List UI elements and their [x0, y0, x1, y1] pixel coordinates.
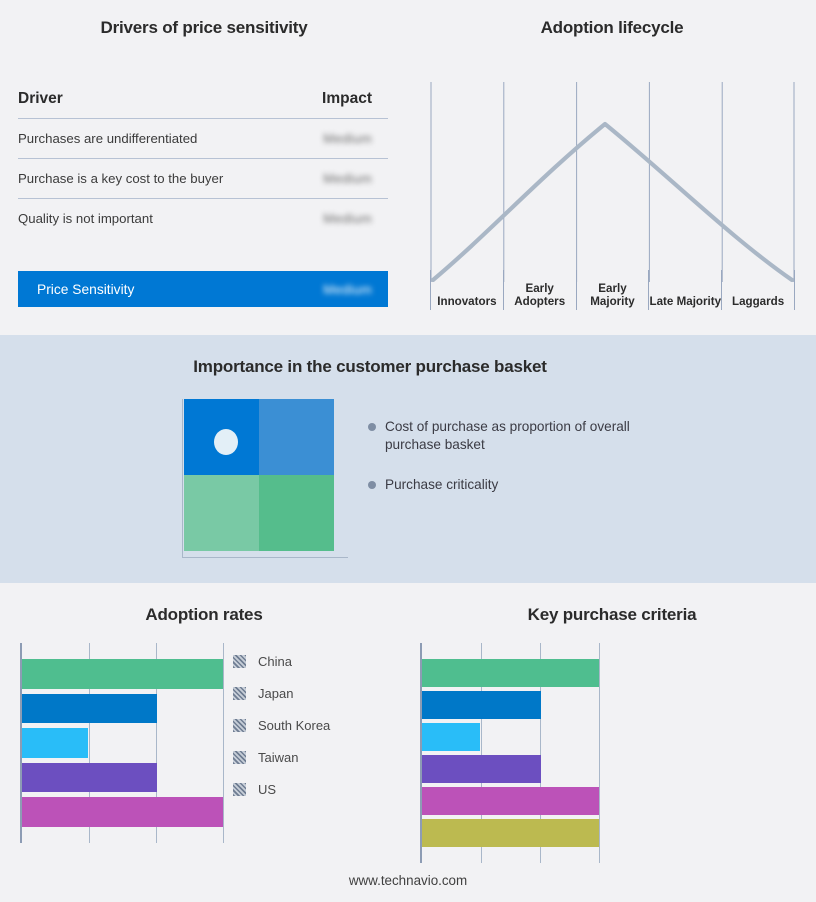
- driver-name: Quality is not important: [18, 199, 298, 239]
- matrix-position-marker: [214, 429, 238, 455]
- bar: [22, 659, 223, 689]
- table-row: Quality is not important Medium: [18, 199, 388, 239]
- adoption-rates-panel: Adoption rates ChinaJapanSouth KoreaTaiw…: [0, 583, 408, 902]
- adoption-lifecycle-title: Adoption lifecycle: [408, 18, 816, 38]
- lifecycle-stage-late-majority: Late Majority: [648, 270, 721, 310]
- lifecycle-bell-curve: [433, 124, 792, 280]
- impact-value-blurred: Medium: [323, 171, 372, 186]
- adoption-lifecycle-panel: Adoption lifecycle Innovators Early Adop…: [408, 0, 816, 335]
- table-row: Purchase is a key cost to the buyer Medi…: [18, 159, 388, 199]
- impact-value-blurred: Medium: [323, 211, 372, 226]
- bar-row: [22, 691, 227, 725]
- bar-row: [422, 817, 602, 849]
- matrix-quadrants: [184, 399, 334, 551]
- bar: [422, 787, 599, 815]
- bullet-dot-icon: [368, 481, 376, 489]
- adoption-lifecycle-plot: [430, 82, 795, 282]
- lifecycle-stage-early-majority: Early Majority: [576, 270, 649, 310]
- legend-label: Cost of purchase as proportion of overal…: [385, 418, 643, 454]
- matrix-y-axis: [182, 399, 183, 557]
- hatched-swatch-icon: [233, 751, 246, 764]
- adoption-rates-chart: [20, 643, 225, 843]
- adoption-rates-legend: ChinaJapanSouth KoreaTaiwanUS: [233, 645, 330, 805]
- key-purchase-criteria-panel: Key purchase criteria InnovationPriceQua…: [408, 583, 816, 902]
- lifecycle-stage-early-adopters: Early Adopters: [503, 270, 576, 310]
- hatched-swatch-icon: [233, 719, 246, 732]
- bar-row: [22, 657, 227, 691]
- legend-item: South Korea: [233, 709, 330, 741]
- adoption-lifecycle-stage-labels: Innovators Early Adopters Early Majority…: [430, 270, 795, 310]
- legend-label: Japan: [258, 686, 293, 701]
- driver-name: Purchase is a key cost to the buyer: [18, 159, 298, 199]
- driver-impact: Medium: [298, 119, 388, 159]
- bar-row: [422, 721, 602, 753]
- bar-row: [422, 753, 602, 785]
- adoption-plot-area: [20, 643, 227, 843]
- key-purchase-criteria-title: Key purchase criteria: [408, 605, 816, 625]
- lifecycle-curve-svg: [430, 82, 795, 282]
- legend-item-purchase-criticality: Purchase criticality: [368, 476, 668, 494]
- driver-name: Purchases are undifferentiated: [18, 119, 298, 159]
- bar-row: [22, 760, 227, 794]
- lifecycle-gridlines: [431, 82, 794, 282]
- price-sensitivity-impact-blurred: Medium: [323, 282, 372, 297]
- drivers-table: Driver Impact Purchases are undifferenti…: [18, 90, 388, 238]
- bar-row: [22, 726, 227, 760]
- matrix-quadrant-bottom-left: [184, 475, 259, 551]
- bullet-dot-icon: [368, 423, 376, 431]
- legend-item: US: [233, 773, 330, 805]
- legend-label: South Korea: [258, 718, 330, 733]
- legend-label: Taiwan: [258, 750, 298, 765]
- legend-label: Purchase criticality: [385, 476, 498, 494]
- hatched-swatch-icon: [233, 783, 246, 796]
- matrix-quadrant-top-right: [259, 399, 334, 475]
- price-sensitivity-summary-row: Price Sensitivity Medium: [18, 271, 388, 307]
- purchase-basket-title: Importance in the customer purchase bask…: [0, 357, 740, 377]
- column-header-driver: Driver: [18, 90, 298, 119]
- bar: [422, 723, 480, 751]
- matrix-quadrant-bottom-right: [259, 475, 334, 551]
- bar: [422, 691, 541, 719]
- bar: [22, 797, 223, 827]
- bar-row: [22, 795, 227, 829]
- purchase-basket-panel: Importance in the customer purchase bask…: [0, 335, 816, 583]
- purchase-basket-legend: Cost of purchase as proportion of overal…: [368, 418, 668, 517]
- legend-item: Taiwan: [233, 741, 330, 773]
- bar: [22, 728, 88, 758]
- criteria-bars: [422, 657, 602, 849]
- bar-row: [422, 689, 602, 721]
- driver-impact: Medium: [298, 159, 388, 199]
- adoption-rates-title: Adoption rates: [0, 605, 408, 625]
- adoption-bars: [22, 657, 227, 829]
- bar-row: [422, 657, 602, 689]
- drivers-panel: Drivers of price sensitivity Driver Impa…: [0, 0, 408, 335]
- lifecycle-stage-innovators: Innovators: [430, 270, 503, 310]
- column-header-impact: Impact: [298, 90, 388, 119]
- matrix-quadrant-top-left: [184, 399, 259, 475]
- drivers-title: Drivers of price sensitivity: [0, 18, 408, 38]
- legend-item-cost-of-purchase: Cost of purchase as proportion of overal…: [368, 418, 668, 454]
- table-header-row: Driver Impact: [18, 90, 388, 119]
- bar: [422, 819, 599, 847]
- bar-row: [422, 785, 602, 817]
- bar: [22, 763, 157, 793]
- criteria-plot-area: [420, 643, 602, 863]
- hatched-swatch-icon: [233, 687, 246, 700]
- lifecycle-stage-laggards: Laggards: [721, 270, 795, 310]
- legend-label: China: [258, 654, 292, 669]
- bar: [422, 659, 599, 687]
- key-purchase-criteria-chart: [420, 643, 600, 863]
- bar: [22, 694, 157, 724]
- purchase-basket-matrix: [176, 399, 344, 567]
- hatched-swatch-icon: [233, 655, 246, 668]
- matrix-x-axis: [182, 557, 348, 558]
- driver-impact: Medium: [298, 199, 388, 239]
- site-watermark: www.technavio.com: [0, 873, 816, 888]
- legend-label: US: [258, 782, 276, 797]
- legend-item: Japan: [233, 677, 330, 709]
- impact-value-blurred: Medium: [323, 131, 372, 146]
- price-sensitivity-label: Price Sensitivity: [37, 282, 134, 297]
- bar: [422, 755, 541, 783]
- legend-item: China: [233, 645, 330, 677]
- table-row: Purchases are undifferentiated Medium: [18, 119, 388, 159]
